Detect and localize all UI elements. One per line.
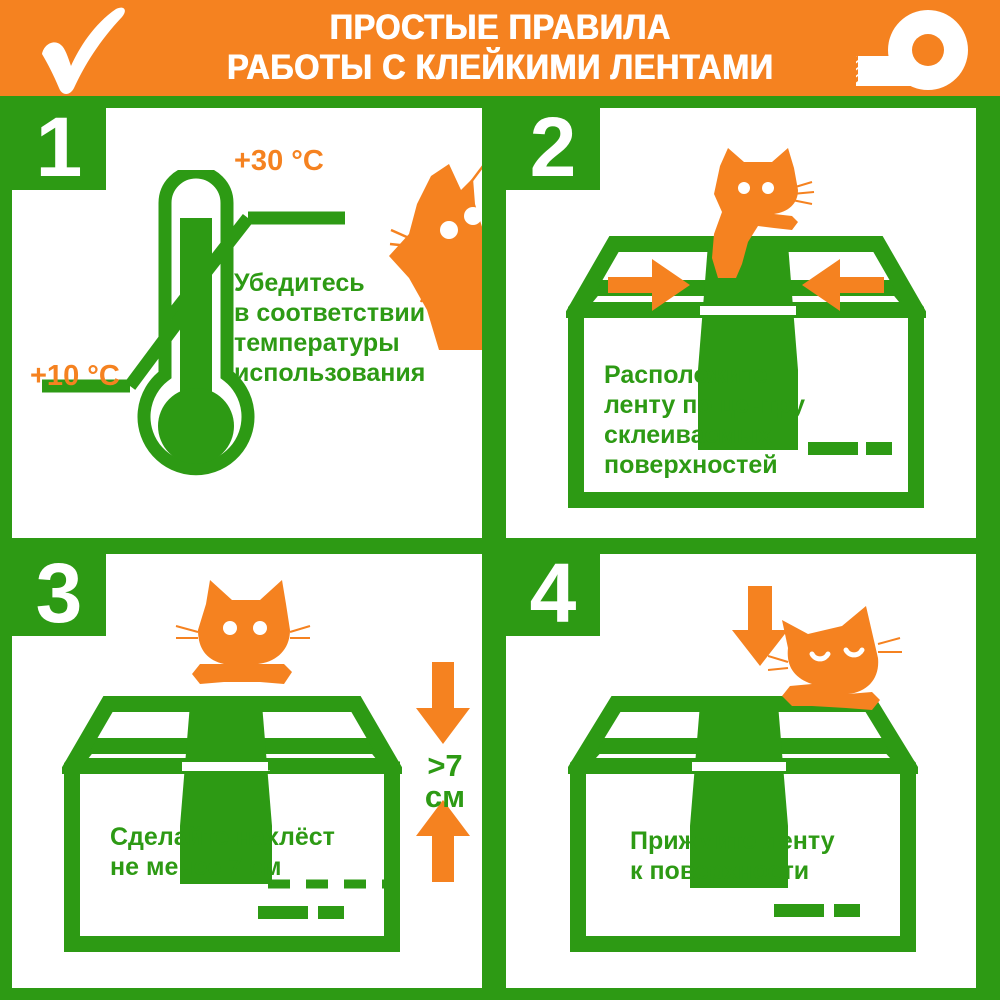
arrow-down-icon — [416, 662, 470, 744]
page-title: ПРОСТЫЕ ПРАВИЛА РАБОТЫ С КЛЕЙКИМИ ЛЕНТАМ… — [227, 8, 774, 88]
step-number-badge: 4 — [506, 554, 600, 636]
panel-step-1: 1 — [12, 108, 482, 538]
panel-step-4: 4 — [506, 554, 976, 988]
panel-step-3: 3 — [12, 554, 482, 988]
temperature-high-label: +30 °C — [234, 145, 324, 178]
step-number-badge: 3 — [12, 554, 106, 636]
temperature-low-label: +10 °C — [30, 360, 120, 393]
step-1-caption: Убедитесь в соответствии температуры исп… — [234, 268, 425, 388]
checkmark-icon — [34, 6, 144, 94]
infographic-poster: ПРОСТЫЕ ПРАВИЛА РАБОТЫ С КЛЕЙКИМИ ЛЕНТАМ… — [0, 0, 1000, 1000]
title-line-1: ПРОСТЫЕ ПРАВИЛА — [227, 8, 774, 48]
overlap-dimension-label: >7 см — [412, 750, 478, 812]
cat-draped-paw-icon — [696, 146, 826, 286]
panel-step-2: 2 — [506, 108, 976, 538]
title-line-2: РАБОТЫ С КЛЕЙКИМИ ЛЕНТАМИ — [227, 48, 774, 88]
tape-roll-icon — [850, 8, 978, 92]
cat-sleepy-icon — [768, 596, 908, 716]
step-3-caption: Сделайте нахлёст не менее 7 см — [110, 822, 335, 882]
cat-front-paws-icon — [172, 576, 312, 696]
step-number-badge: 2 — [506, 108, 600, 190]
header-banner: ПРОСТЫЕ ПРАВИЛА РАБОТЫ С КЛЕЙКИМИ ЛЕНТАМ… — [0, 0, 1000, 96]
step-4-caption: Прижмите ленту к поверхности — [630, 826, 835, 886]
step-2-caption: Расположите ленту по центру склеиваемых … — [604, 360, 805, 480]
